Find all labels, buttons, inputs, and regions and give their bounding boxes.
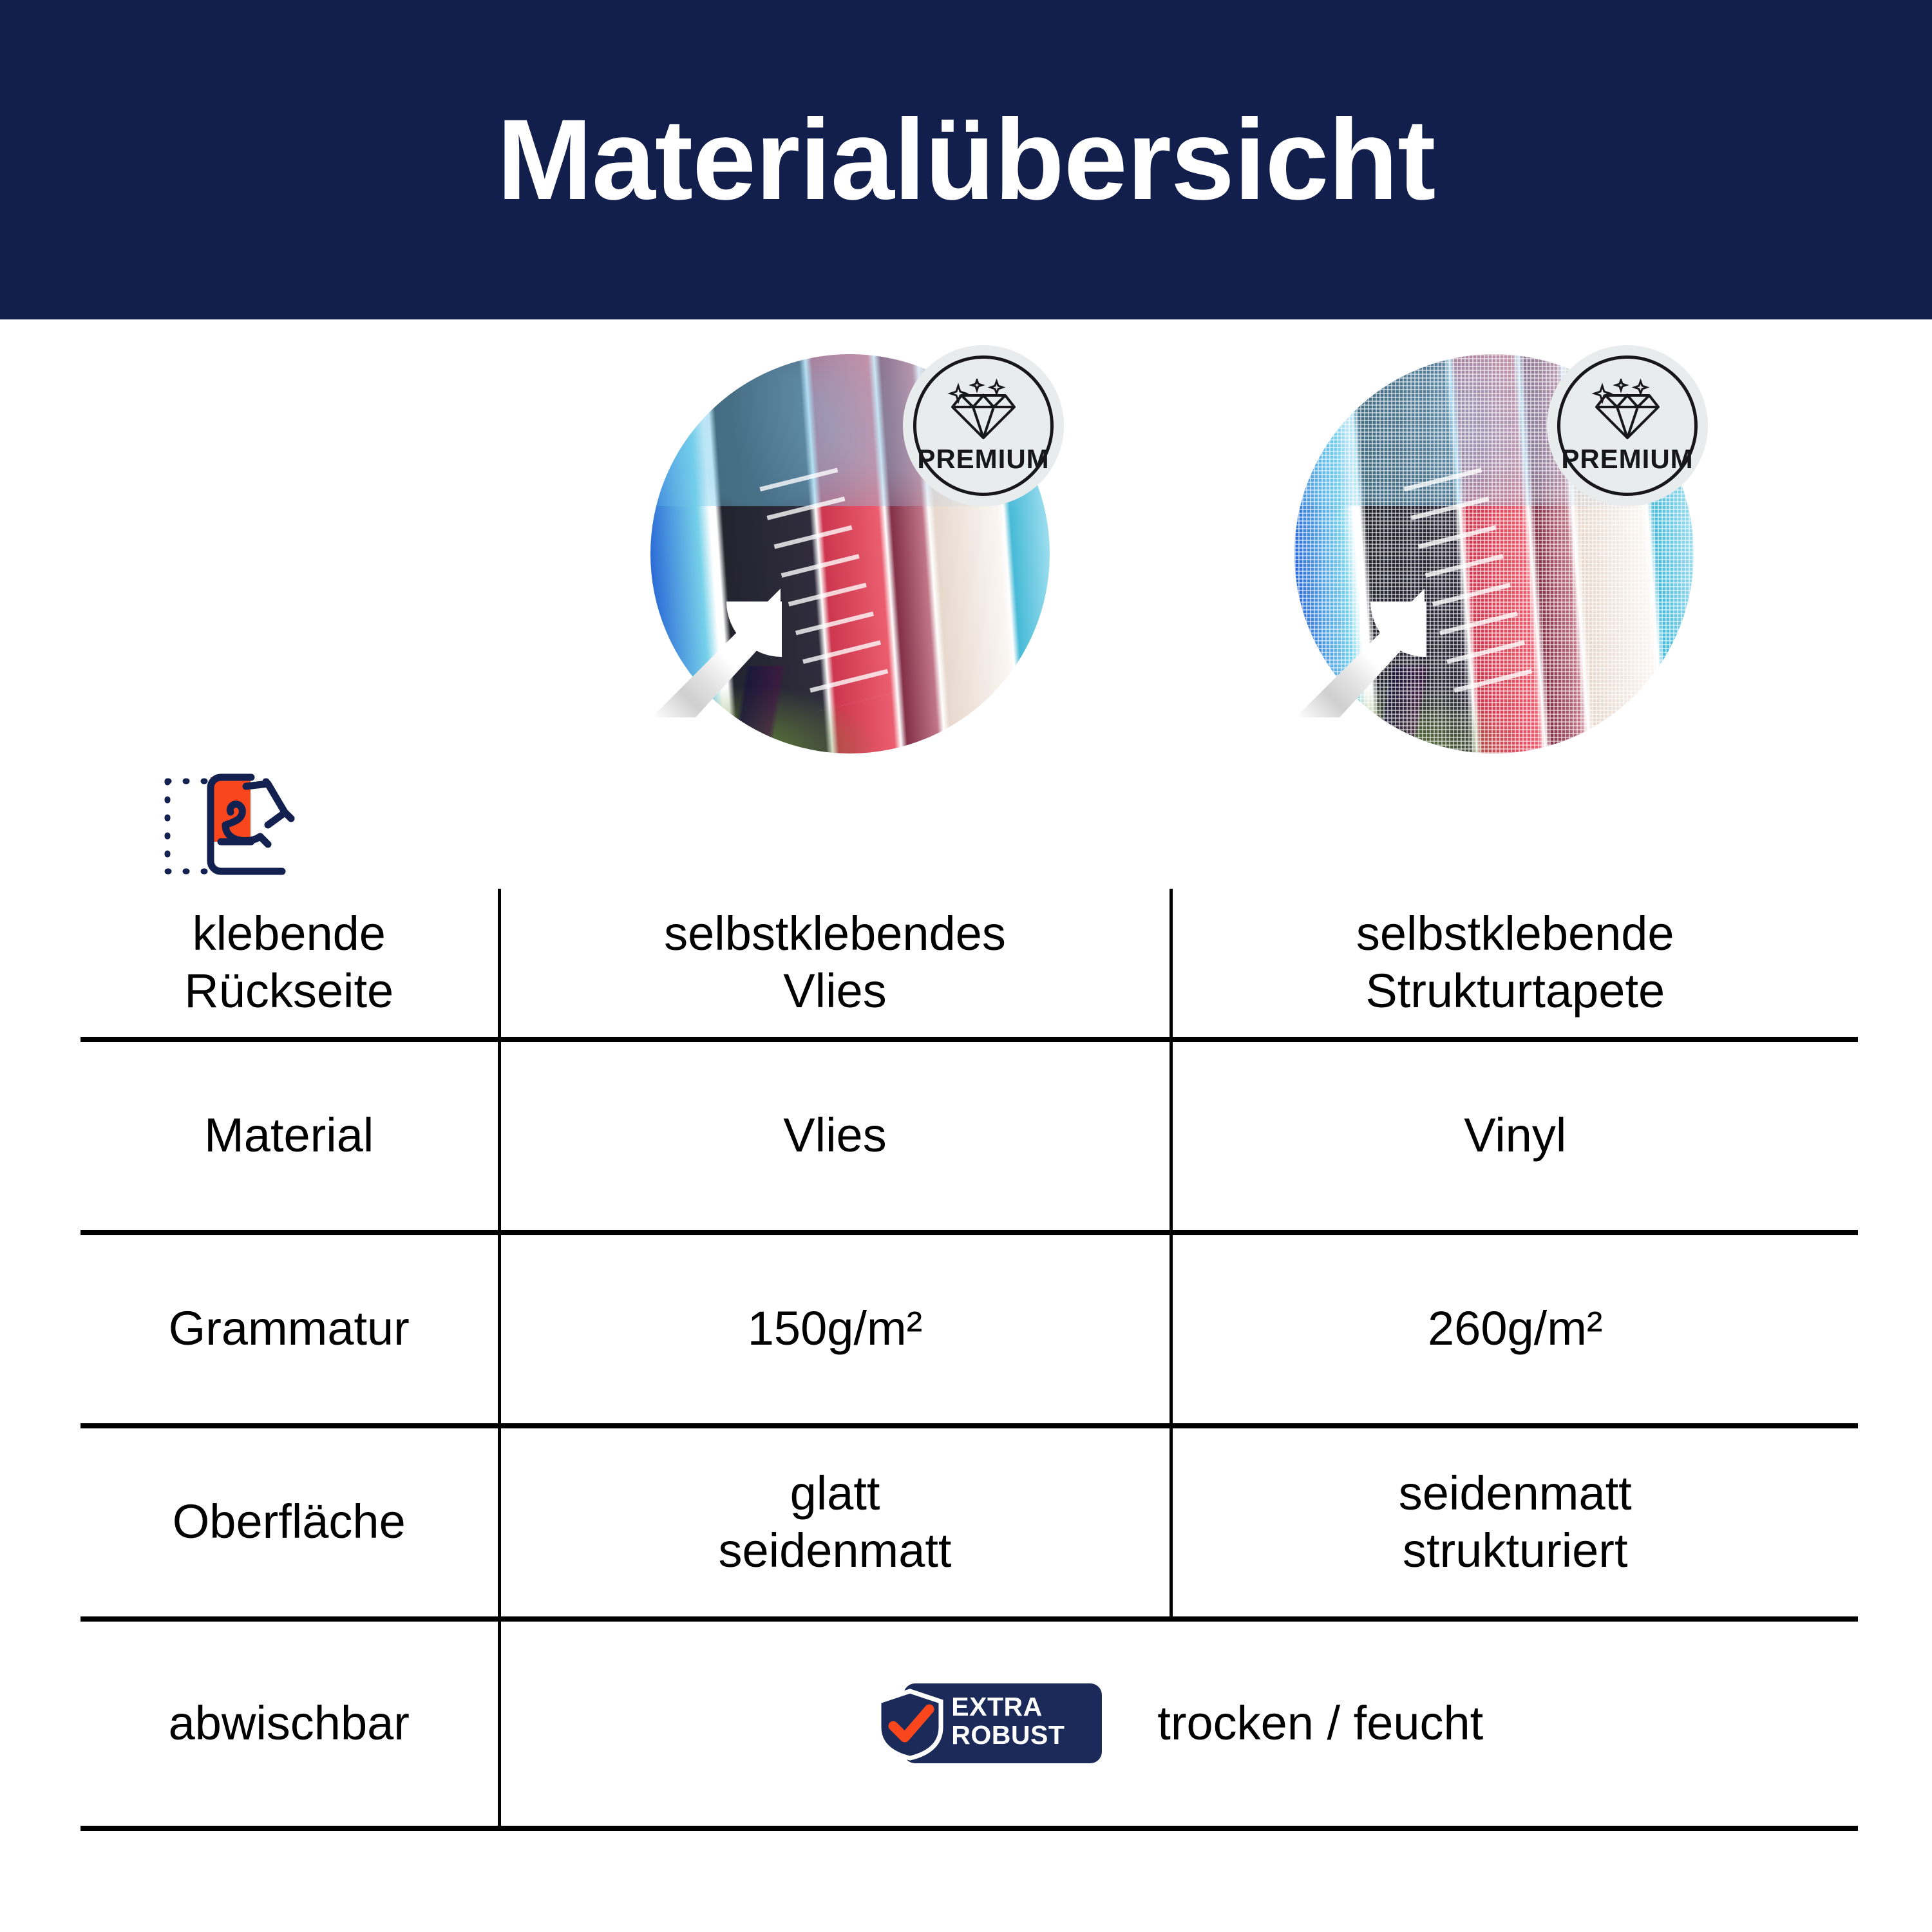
premium-badge-strukturtapete: PREMIUM — [1547, 345, 1708, 506]
cell-line2: seidenmatt — [511, 1522, 1159, 1580]
row-label-grammatur: Grammatur — [80, 1233, 499, 1426]
cell-line1: glatt — [511, 1465, 1159, 1522]
row-label-material: Material — [80, 1039, 499, 1233]
cell-line1: selbstklebende — [1183, 905, 1848, 963]
cell-oberflaeche-vlies: glatt seidenmatt — [499, 1426, 1171, 1619]
row-label-oberflaeche: Oberfläche — [80, 1426, 499, 1619]
shield-check-icon — [875, 1689, 945, 1761]
preview-row: PREMIUM — [0, 348, 1932, 760]
cell-abwischbar-value: EXTRA ROBUST trocken / feucht — [499, 1619, 1858, 1828]
premium-badge-vlies: PREMIUM — [903, 345, 1064, 506]
premium-badge-label: PREMIUM — [1561, 446, 1693, 473]
cell-line1: seidenmatt — [1183, 1465, 1848, 1522]
robust-badge-line2: ROBUST — [951, 1721, 1097, 1749]
preview-sample-strukturtapete: PREMIUM — [1294, 354, 1694, 753]
cell-grammatur-vinyl: 260g/m² — [1171, 1233, 1858, 1426]
cell-line2: Vlies — [511, 963, 1159, 1020]
cell-line2: Strukturtapete — [1183, 963, 1848, 1020]
robust-badge-line1: EXTRA — [951, 1692, 1097, 1721]
cell-line2: strukturiert — [1183, 1522, 1848, 1580]
sticky-back-label-line1: klebende — [91, 905, 488, 963]
row-label-abwischbar: abwischbar — [80, 1619, 499, 1828]
page-header: Materialübersicht — [0, 0, 1932, 319]
cell-grammatur-vlies: 150g/m² — [499, 1233, 1171, 1426]
cell-line1: selbstklebendes — [511, 905, 1159, 963]
table-row: Grammatur 150g/m² 260g/m² — [80, 1233, 1858, 1426]
premium-badge-label: PREMIUM — [917, 446, 1049, 473]
preview-sample-vlies: PREMIUM — [650, 354, 1050, 753]
sticky-back-label: klebende Rückseite — [80, 889, 499, 1039]
material-overview-page: Materialübersicht — [0, 0, 1932, 1932]
cell-material-vinyl: Vinyl — [1171, 1039, 1858, 1233]
table-row: Material Vlies Vinyl — [80, 1039, 1858, 1233]
table-row: Oberfläche glatt seidenmatt seidenmatt s… — [80, 1426, 1858, 1619]
diamond-icon — [942, 379, 1025, 442]
abwischbar-value-text: trocken / feucht — [1157, 1695, 1483, 1752]
cell-oberflaeche-vinyl: seidenmatt strukturiert — [1171, 1426, 1858, 1619]
peel-sticker-hand-icon — [148, 763, 341, 892]
diamond-icon — [1586, 379, 1669, 442]
cell-material-vlies: Vlies — [499, 1039, 1171, 1233]
table-row: abwischbar EXTRA — [80, 1619, 1858, 1828]
material-spec-table: klebende Rückseite selbstklebendes Vlies… — [80, 889, 1858, 1831]
page-title: Materialübersicht — [497, 102, 1435, 217]
sticky-back-label-line2: Rückseite — [91, 963, 488, 1020]
header-cell-vlies: selbstklebendes Vlies — [499, 889, 1171, 1039]
header-cell-strukturtapete: selbstklebende Strukturtapete — [1171, 889, 1858, 1039]
extra-robust-badge: EXTRA ROBUST — [875, 1683, 1102, 1763]
table-row: klebende Rückseite selbstklebendes Vlies… — [80, 889, 1858, 1039]
